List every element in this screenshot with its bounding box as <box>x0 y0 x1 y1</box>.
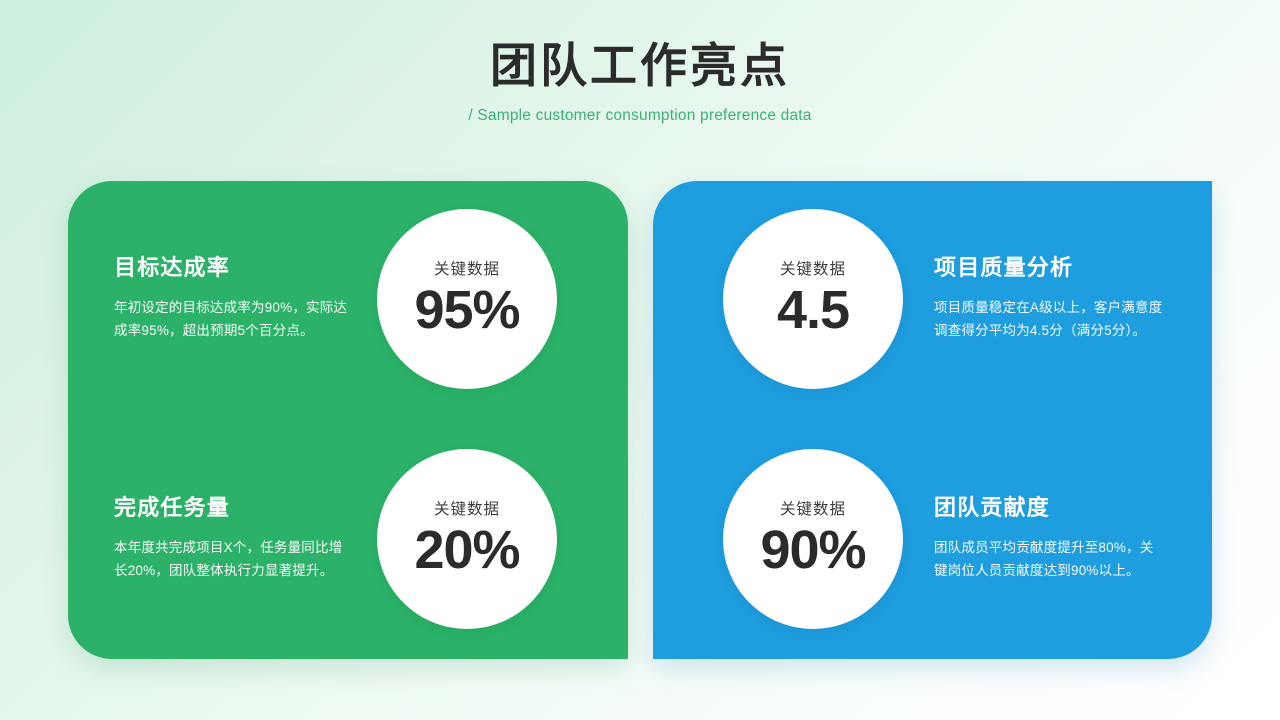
card-green[interactable]: 目标达成率 年初设定的目标达成率为90%，实际达成率95%，超出预期5个百分点。… <box>68 181 628 659</box>
metric-value: 90% <box>760 521 865 580</box>
card-blue-block-1: 项目质量分析 项目质量稳定在A级以上，客户满意度调查得分平均为4.5分（满分5分… <box>653 191 1212 406</box>
block-text: 项目质量分析 项目质量稳定在A级以上，客户满意度调查得分平均为4.5分（满分5分… <box>924 255 1212 343</box>
block-description: 本年度共完成项目X个，任务量同比增长20%，团队整体执行力显著提升。 <box>114 536 356 582</box>
metric-label: 关键数据 <box>434 257 500 279</box>
block-title: 项目质量分析 <box>934 255 1166 281</box>
block-title: 完成任务量 <box>114 495 356 521</box>
metric-circle-wrap: 关键数据 4.5 <box>718 209 908 389</box>
cards-container: 目标达成率 年初设定的目标达成率为90%，实际达成率95%，超出预期5个百分点。… <box>68 181 1212 659</box>
block-title: 目标达成率 <box>114 255 356 281</box>
slide-header: 团队工作亮点 / Sample customer consumption pre… <box>0 38 1280 125</box>
block-description: 项目质量稳定在A级以上，客户满意度调查得分平均为4.5分（满分5分）。 <box>934 296 1166 342</box>
metric-circle[interactable]: 关键数据 95% <box>377 209 557 389</box>
block-description: 团队成员平均贡献度提升至80%，关键岗位人员贡献度达到90%以上。 <box>934 536 1166 582</box>
metric-value: 95% <box>414 281 519 340</box>
block-description: 年初设定的目标达成率为90%，实际达成率95%，超出预期5个百分点。 <box>114 296 356 342</box>
card-blue-block-2: 团队贡献度 团队成员平均贡献度提升至80%，关键岗位人员贡献度达到90%以上。 … <box>653 431 1212 646</box>
metric-label: 关键数据 <box>780 497 846 519</box>
metric-circle[interactable]: 关键数据 90% <box>723 449 903 629</box>
block-text: 完成任务量 本年度共完成项目X个，任务量同比增长20%，团队整体执行力显著提升。 <box>68 495 356 583</box>
card-blue[interactable]: 项目质量分析 项目质量稳定在A级以上，客户满意度调查得分平均为4.5分（满分5分… <box>653 181 1212 659</box>
metric-circle-wrap: 关键数据 95% <box>372 209 562 389</box>
metric-circle-wrap: 关键数据 20% <box>372 449 562 629</box>
page-title: 团队工作亮点 <box>0 38 1280 93</box>
block-text: 目标达成率 年初设定的目标达成率为90%，实际达成率95%，超出预期5个百分点。 <box>68 255 356 343</box>
metric-circle[interactable]: 关键数据 4.5 <box>723 209 903 389</box>
slide: 团队工作亮点 / Sample customer consumption pre… <box>0 0 1280 720</box>
metric-label: 关键数据 <box>780 257 846 279</box>
card-green-block-2: 完成任务量 本年度共完成项目X个，任务量同比增长20%，团队整体执行力显著提升。… <box>68 431 628 646</box>
metric-value: 4.5 <box>777 281 849 340</box>
card-green-block-1: 目标达成率 年初设定的目标达成率为90%，实际达成率95%，超出预期5个百分点。… <box>68 191 628 406</box>
block-text: 团队贡献度 团队成员平均贡献度提升至80%，关键岗位人员贡献度达到90%以上。 <box>924 495 1212 583</box>
metric-label: 关键数据 <box>434 497 500 519</box>
page-subtitle: / Sample customer consumption preference… <box>0 107 1280 125</box>
metric-circle-wrap: 关键数据 90% <box>718 449 908 629</box>
metric-circle[interactable]: 关键数据 20% <box>377 449 557 629</box>
metric-value: 20% <box>414 521 519 580</box>
block-title: 团队贡献度 <box>934 495 1166 521</box>
